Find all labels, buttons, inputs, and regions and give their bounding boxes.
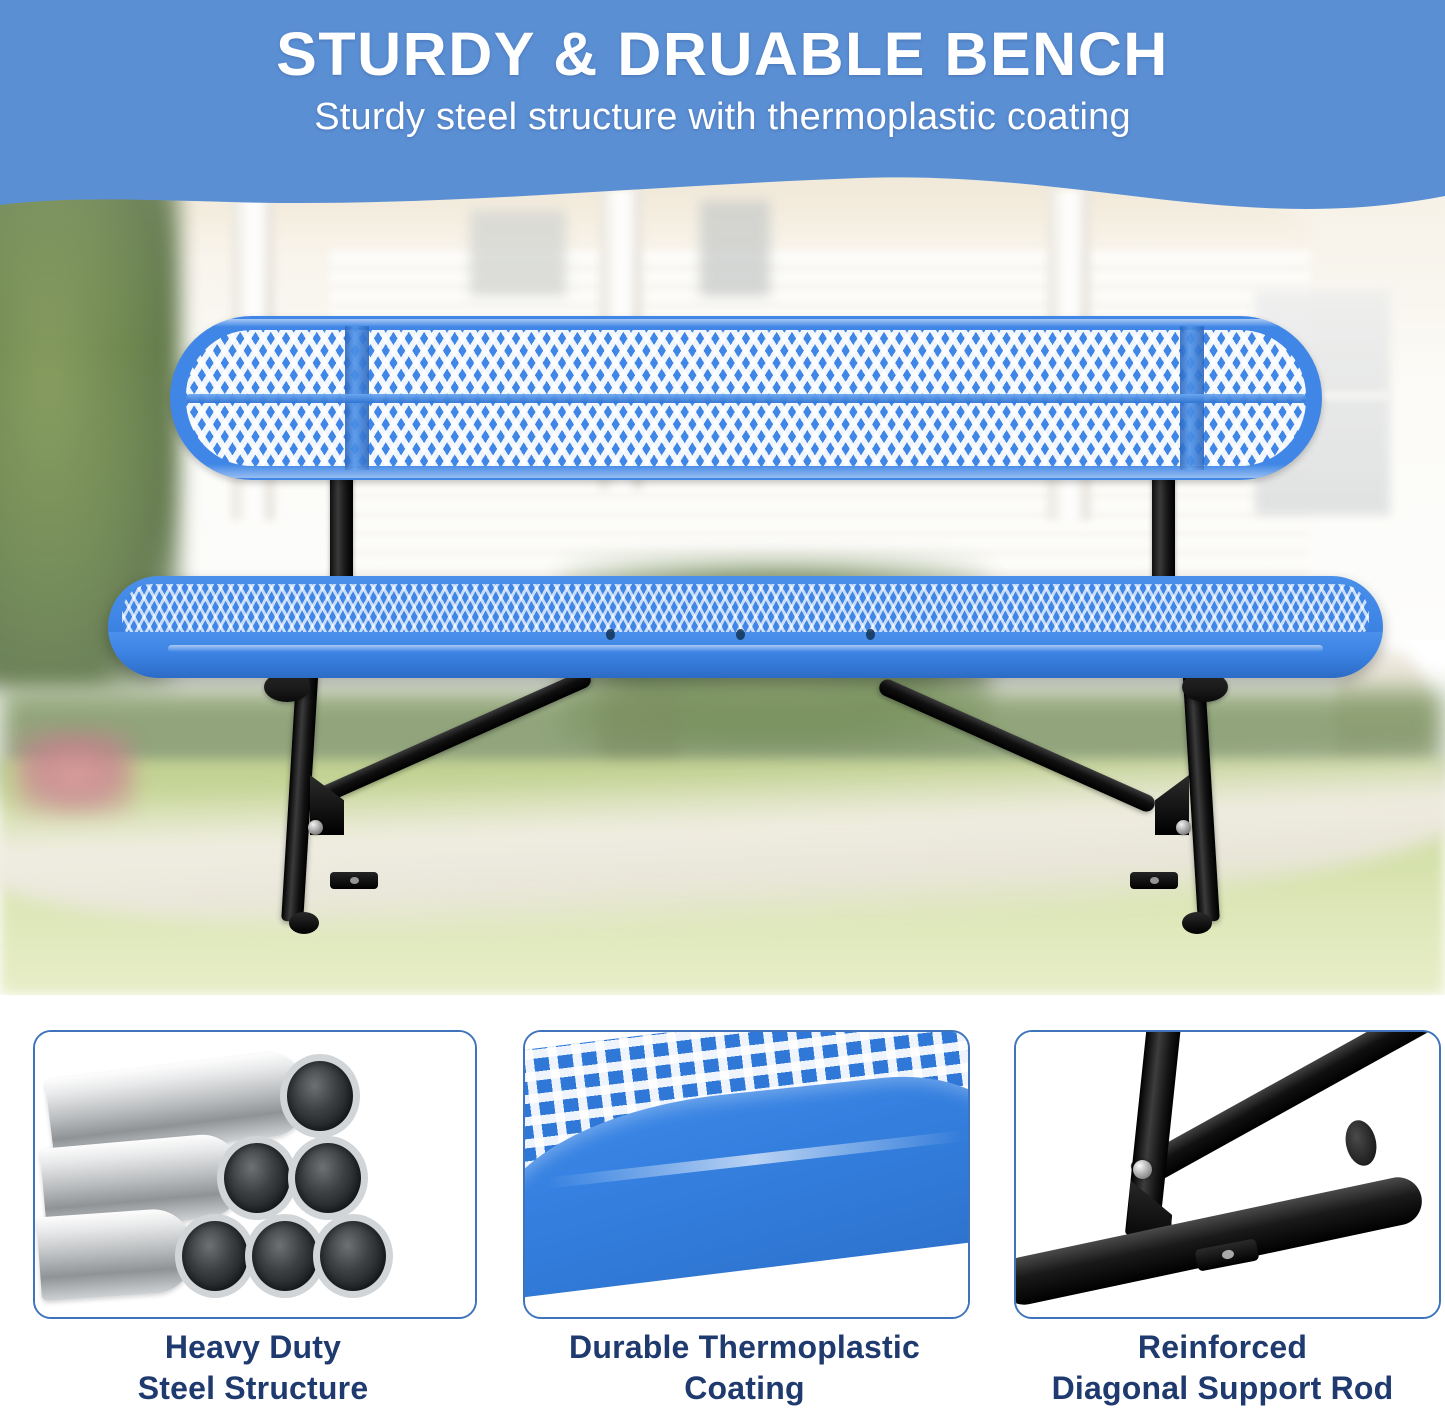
steel-tube-opening [175, 1214, 255, 1298]
bolt-icon [1133, 1160, 1152, 1179]
feature-caption-steel-structure: Heavy Duty Steel Structure [33, 1327, 473, 1409]
feature-cards-section: Heavy Duty Steel Structure Durable Therm… [0, 1000, 1445, 1423]
header-banner: STURDY & DRUABLE BENCH Sturdy steel stru… [0, 0, 1445, 235]
diagonal-support-rod-right [877, 677, 1158, 815]
hero-section: STURDY & DRUABLE BENCH Sturdy steel stru… [0, 0, 1445, 995]
backrest-highlight [210, 319, 1282, 327]
feature-card-thermoplastic-coating [523, 1030, 970, 1319]
bench-seat [108, 576, 1383, 678]
seat-highlight [168, 645, 1323, 652]
mount-hole [350, 877, 359, 884]
caption-line-2: Steel Structure [33, 1368, 473, 1409]
feature-caption-diagonal-support-rod: Reinforced Diagonal Support Rod [1000, 1327, 1445, 1409]
steel-tube-opening [217, 1136, 297, 1220]
caption-line-2: Diagonal Support Rod [1000, 1368, 1445, 1409]
feature-card-steel-structure [33, 1030, 477, 1319]
tube-end-cap [1342, 1117, 1381, 1168]
feature-caption-thermoplastic-coating: Durable Thermoplastic Coating [523, 1327, 966, 1409]
steel-tube-opening [288, 1136, 368, 1220]
frame-junction-illustration [1016, 1032, 1439, 1317]
backrest-center-rail [186, 394, 1306, 403]
caption-line-1: Reinforced [1000, 1327, 1445, 1368]
leg-end-cap-right [1182, 912, 1212, 934]
caption-line-2: Coating [523, 1368, 966, 1409]
steel-tube [36, 1207, 196, 1302]
bolt-icon [1176, 820, 1191, 835]
mount-hole [1150, 877, 1159, 884]
steel-tube-opening [313, 1214, 393, 1298]
bench-backrest [170, 316, 1322, 480]
horizontal-base-tube [1016, 1173, 1426, 1309]
coated-mesh-illustration [525, 1032, 968, 1317]
bolt-icon [308, 820, 323, 835]
diagonal-support-rod-left [313, 669, 594, 807]
caption-line-1: Heavy Duty [33, 1327, 473, 1368]
seat-drain-hole [606, 629, 615, 640]
seat-drain-hole [866, 629, 875, 640]
seat-drain-hole [736, 629, 745, 640]
feature-card-diagonal-support-rod [1014, 1030, 1441, 1319]
seat-mesh [122, 584, 1369, 636]
backrest-lower-highlight [200, 464, 1292, 478]
caption-line-1: Durable Thermoplastic [523, 1327, 966, 1368]
product-feature-image: STURDY & DRUABLE BENCH Sturdy steel stru… [0, 0, 1445, 1423]
steel-tubes-illustration [35, 1032, 475, 1317]
page-subtitle: Sturdy steel structure with thermoplasti… [0, 96, 1445, 139]
seat-front-lip [108, 632, 1383, 678]
leg-end-cap-left [289, 912, 319, 934]
page-title: STURDY & DRUABLE BENCH [0, 22, 1445, 86]
steel-tube-opening [280, 1054, 360, 1138]
